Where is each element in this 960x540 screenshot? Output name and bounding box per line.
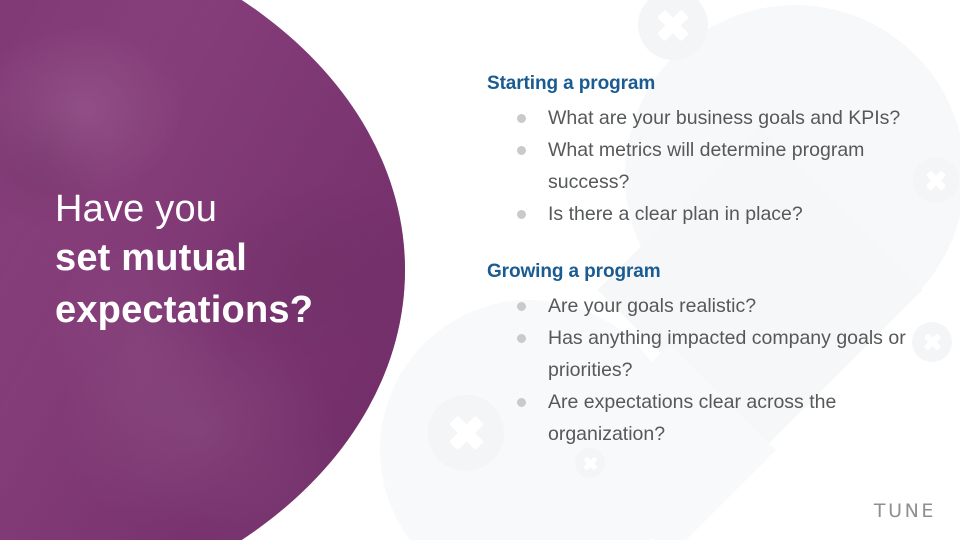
watermark-x-circle-icon-5 (575, 448, 605, 478)
title-line-bold-1: set mutual (55, 232, 385, 284)
x-stroke (926, 170, 947, 191)
bullet-list: Are your goals realistic? Has anything i… (487, 290, 917, 450)
slide-canvas: Have you set mutual expectations? Starti… (0, 0, 960, 540)
list-item-text: Are expectations clear across the organi… (548, 391, 836, 445)
watermark-x-circle-icon-2 (913, 157, 959, 203)
list-item: Has anything impacted company goals or p… (487, 322, 917, 386)
group-heading: Starting a program (487, 72, 917, 96)
x-stroke (657, 9, 689, 41)
bullet-list: What are your business goals and KPIs? W… (487, 102, 917, 230)
bullet-dot-icon (517, 210, 526, 219)
x-stroke (449, 416, 484, 451)
x-stroke (583, 456, 597, 470)
bullet-dot-icon (517, 114, 526, 123)
list-item-text: What metrics will determine program succ… (548, 139, 864, 193)
title-line-light: Have you (55, 186, 385, 232)
content-column: Starting a program What are your busines… (487, 72, 917, 450)
bullet-dot-icon (517, 334, 526, 343)
tune-logo: TUNE (874, 500, 936, 522)
watermark-x-circle-icon-3 (912, 322, 952, 362)
group-growing-a-program: Growing a program Are your goals realist… (487, 260, 917, 450)
x-stroke (926, 170, 947, 191)
bullet-dot-icon (517, 302, 526, 311)
list-item-text: Is there a clear plan in place? (548, 203, 803, 225)
x-stroke (923, 333, 941, 351)
bullet-dot-icon (517, 146, 526, 155)
bullet-dot-icon (517, 398, 526, 407)
list-item-text: What are your business goals and KPIs? (548, 107, 900, 129)
group-heading: Growing a program (487, 260, 917, 284)
x-stroke (923, 333, 941, 351)
list-item-text: Are your goals realistic? (548, 295, 756, 317)
x-stroke (449, 416, 484, 451)
list-item: Are your goals realistic? (487, 290, 917, 322)
list-item: Are expectations clear across the organi… (487, 386, 917, 450)
list-item: What metrics will determine program succ… (487, 134, 917, 198)
list-item-text: Has anything impacted company goals or p… (548, 327, 906, 381)
x-stroke (657, 9, 689, 41)
list-item: Is there a clear plan in place? (487, 198, 917, 230)
page-title: Have you set mutual expectations? (55, 186, 385, 336)
x-stroke (583, 456, 597, 470)
group-starting-a-program: Starting a program What are your busines… (487, 72, 917, 230)
title-line-bold-2: expectations? (55, 284, 385, 336)
watermark-x-circle-icon-1 (638, 0, 708, 60)
list-item: What are your business goals and KPIs? (487, 102, 917, 134)
